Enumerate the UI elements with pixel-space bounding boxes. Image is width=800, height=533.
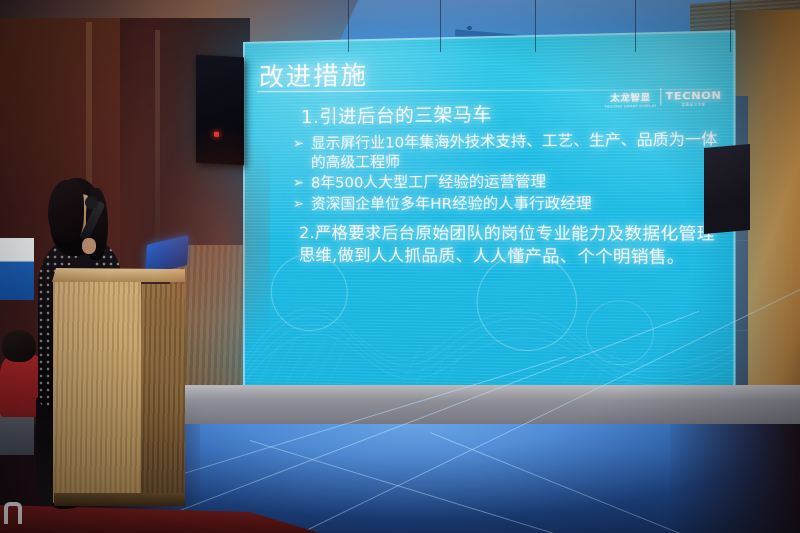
riser-seam	[635, 0, 636, 52]
riser-seam	[440, 0, 441, 52]
riser-seam	[535, 0, 536, 52]
led-screen-bezel	[243, 30, 736, 404]
podium-front-panel	[53, 279, 141, 503]
floor-shadow-right	[670, 424, 800, 533]
speaker-power-led-icon	[214, 132, 219, 137]
presenter-hand	[82, 238, 96, 254]
led-display-wall: 改进措施 太龙智显 TAILONG SMART DISPLAY TECNON 智…	[243, 30, 736, 404]
loudspeaker-right	[704, 144, 750, 234]
podium-base	[54, 493, 185, 506]
podium-side-panel	[140, 284, 185, 498]
riser-seam	[348, 0, 349, 52]
podium-top-surface	[52, 268, 185, 282]
presenter-hair-front	[48, 180, 84, 242]
ceiling-speaker-dot	[467, 26, 472, 30]
banner-letter-glyph	[4, 502, 22, 524]
conference-photo: 改进措施 太龙智显 TAILONG SMART DISPLAY TECNON 智…	[0, 0, 800, 533]
microphone-head-icon	[85, 196, 98, 209]
loudspeaker-left	[196, 55, 244, 166]
riser-seam	[730, 0, 731, 52]
podium	[52, 268, 185, 506]
